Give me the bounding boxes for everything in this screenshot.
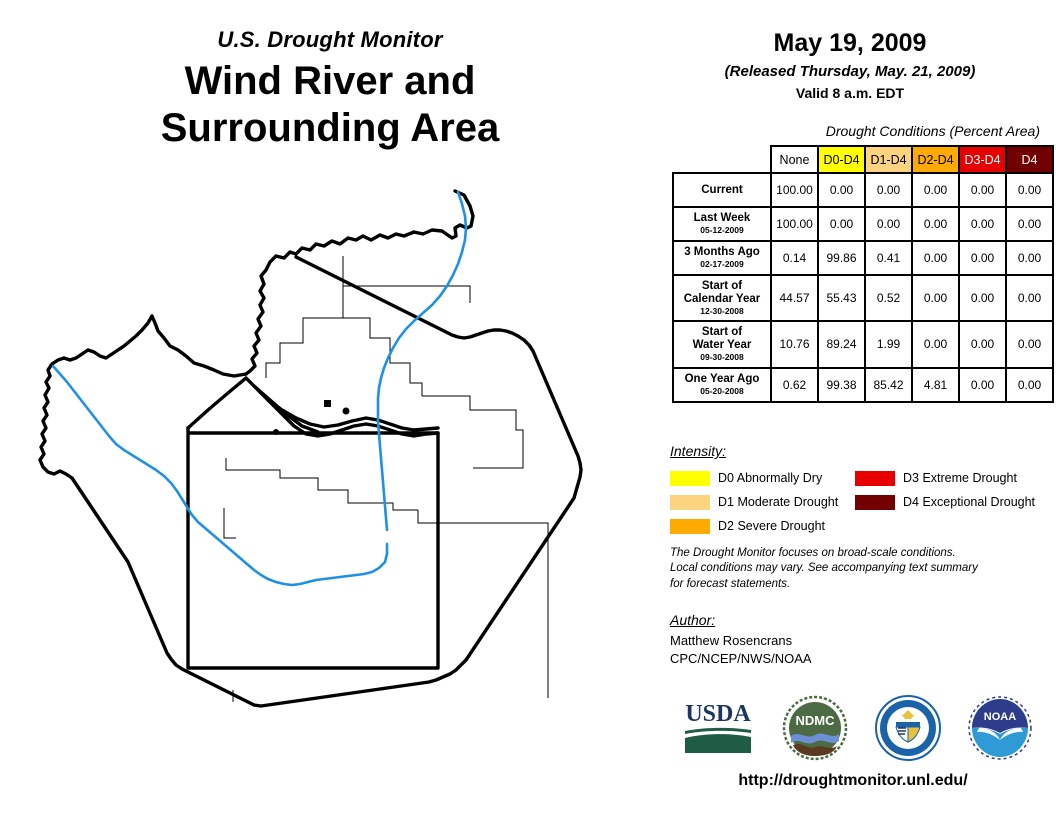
table-cell: 0.00 bbox=[912, 173, 959, 207]
legend-label-d2: D2 Severe Drought bbox=[718, 519, 825, 533]
table-cell: 0.00 bbox=[959, 275, 1006, 321]
legend-grid: D0 Abnormally DryD3 Extreme DroughtD1 Mo… bbox=[670, 466, 1050, 538]
row-header: One Year Ago05-20-2008 bbox=[673, 368, 771, 402]
noaa-logo-text: NOAA bbox=[984, 711, 1016, 723]
row-label: Current bbox=[678, 184, 766, 197]
noaa-logo[interactable]: NOAA bbox=[967, 695, 1033, 761]
legend-label-d4: D4 Exceptional Drought bbox=[903, 495, 1035, 509]
intensity-legend: Intensity: D0 Abnormally DryD3 Extreme D… bbox=[670, 443, 1050, 538]
row-header: 3 Months Ago02-17-2009 bbox=[673, 241, 771, 275]
legend-label-d3: D3 Extreme Drought bbox=[903, 471, 1017, 485]
table-corner-cell bbox=[673, 146, 771, 173]
table-cell: 0.00 bbox=[959, 321, 1006, 367]
column-header-d1-d4: D1-D4 bbox=[865, 146, 912, 173]
table-cell: 0.41 bbox=[865, 241, 912, 275]
table-row: Current100.000.000.000.000.000.00 bbox=[673, 173, 1053, 207]
legend-swatch-d2 bbox=[670, 519, 710, 534]
row-label: Calendar Year bbox=[678, 293, 766, 306]
row-label: 3 Months Ago bbox=[678, 246, 766, 259]
table-cell: 0.00 bbox=[865, 173, 912, 207]
column-header-d2-d4: D2-D4 bbox=[912, 146, 959, 173]
disclaimer-line-3: for forecast statements. bbox=[670, 577, 1040, 592]
legend-swatch-d0 bbox=[670, 471, 710, 486]
map-svg bbox=[18, 178, 642, 708]
table-cell: 0.00 bbox=[1006, 368, 1053, 402]
table-cell: 0.00 bbox=[959, 241, 1006, 275]
table-cell: 0.00 bbox=[1006, 321, 1053, 367]
disclaimer-line-1: The Drought Monitor focuses on broad-sca… bbox=[670, 546, 1040, 561]
site-url[interactable]: http://droughtmonitor.unl.edu/ bbox=[660, 772, 1046, 790]
legend-label-d0: D0 Abnormally Dry bbox=[718, 471, 822, 485]
table-cell: 0.62 bbox=[771, 368, 818, 402]
table-cell: 4.81 bbox=[912, 368, 959, 402]
legend-entry-d3: D3 Extreme Drought bbox=[855, 471, 1040, 486]
valid-date: May 19, 2009 bbox=[660, 30, 1040, 58]
table-cell: 0.00 bbox=[1006, 275, 1053, 321]
row-label: Water Year bbox=[678, 339, 766, 352]
table-row: Start ofCalendar Year12-30-200844.5755.4… bbox=[673, 275, 1053, 321]
author-affiliation: CPC/NCEP/NWS/NOAA bbox=[670, 650, 1040, 668]
table-cell: 0.00 bbox=[818, 173, 865, 207]
legend-swatch-d1 bbox=[670, 495, 710, 510]
column-header-d3-d4: D3-D4 bbox=[959, 146, 1006, 173]
table-cell: 0.00 bbox=[865, 207, 912, 241]
drought-conditions-table: None D0-D4 D1-D4 D2-D4 D3-D4 D4 Current1… bbox=[672, 145, 1054, 403]
disclaimer: The Drought Monitor focuses on broad-sca… bbox=[670, 546, 1040, 592]
table-row: 3 Months Ago02-17-20090.1499.860.410.000… bbox=[673, 241, 1053, 275]
intensity-heading: Intensity: bbox=[670, 443, 1050, 459]
table-cell: 0.00 bbox=[959, 173, 1006, 207]
table-cell: 0.00 bbox=[912, 321, 959, 367]
table-cell: 99.38 bbox=[818, 368, 865, 402]
table-cell: 100.00 bbox=[771, 207, 818, 241]
legend-swatch-d4 bbox=[855, 495, 895, 510]
valid-time: Valid 8 a.m. EDT bbox=[660, 85, 1040, 101]
author-name: Matthew Rosencrans bbox=[670, 632, 1040, 650]
author-block: Author: Matthew Rosencrans CPC/NCEP/NWS/… bbox=[670, 612, 1040, 667]
ndmc-logo[interactable]: NDMC bbox=[782, 695, 848, 761]
table-cell: 44.57 bbox=[771, 275, 818, 321]
table-cell: 0.14 bbox=[771, 241, 818, 275]
row-date: 12-30-2008 bbox=[678, 307, 766, 317]
table-cell: 0.52 bbox=[865, 275, 912, 321]
table-cell: 100.00 bbox=[771, 173, 818, 207]
table-cell: 0.00 bbox=[1006, 241, 1053, 275]
table-cell: 0.00 bbox=[912, 207, 959, 241]
drought-map[interactable] bbox=[18, 178, 642, 708]
row-date: 05-12-2009 bbox=[678, 226, 766, 236]
legend-entry-d4: D4 Exceptional Drought bbox=[855, 495, 1040, 510]
table-cell: 0.00 bbox=[912, 241, 959, 275]
column-header-none: None bbox=[771, 146, 818, 173]
author-heading: Author: bbox=[670, 612, 1040, 628]
page-title: Wind River and Surrounding Area bbox=[0, 58, 660, 152]
usda-logo-text: USDA bbox=[685, 701, 751, 727]
region-title-line2: Surrounding Area bbox=[0, 105, 660, 152]
doc-seal[interactable] bbox=[874, 694, 942, 762]
table-cell: 0.00 bbox=[959, 207, 1006, 241]
row-label: Start of bbox=[678, 280, 766, 293]
row-label: One Year Ago bbox=[678, 373, 766, 386]
row-header: Start ofCalendar Year12-30-2008 bbox=[673, 275, 771, 321]
legend-label-d1: D1 Moderate Drought bbox=[718, 495, 838, 509]
doc-seal-shield-top bbox=[896, 722, 920, 727]
column-header-d4: D4 bbox=[1006, 146, 1053, 173]
row-header: Start ofWater Year09-30-2008 bbox=[673, 321, 771, 367]
legend-entry-d2: D2 Severe Drought bbox=[670, 519, 855, 534]
table-cell: 0.00 bbox=[1006, 207, 1053, 241]
program-subtitle: U.S. Drought Monitor bbox=[0, 28, 660, 52]
date-block: May 19, 2009 (Released Thursday, May. 21… bbox=[660, 30, 1040, 101]
table-cell: 89.24 bbox=[818, 321, 865, 367]
row-date: 02-17-2009 bbox=[678, 260, 766, 270]
table-cell: 0.00 bbox=[959, 368, 1006, 402]
table-body: Current100.000.000.000.000.000.00Last We… bbox=[673, 173, 1053, 402]
row-date: 05-20-2008 bbox=[678, 387, 766, 397]
legend-entry-d0: D0 Abnormally Dry bbox=[670, 471, 855, 486]
usda-logo[interactable]: USDA bbox=[679, 697, 757, 759]
table-caption: Drought Conditions (Percent Area) bbox=[660, 123, 1040, 139]
right-panel: May 19, 2009 (Released Thursday, May. 21… bbox=[660, 0, 1056, 816]
region-title-line1: Wind River and bbox=[0, 58, 660, 105]
table-cell: 0.00 bbox=[912, 275, 959, 321]
table-row: One Year Ago05-20-20080.6299.3885.424.81… bbox=[673, 368, 1053, 402]
released-date: (Released Thursday, May. 21, 2009) bbox=[660, 63, 1040, 80]
row-header: Last Week05-12-2009 bbox=[673, 207, 771, 241]
table-cell: 0.00 bbox=[1006, 173, 1053, 207]
table-cell: 10.76 bbox=[771, 321, 818, 367]
table-row: Last Week05-12-2009100.000.000.000.000.0… bbox=[673, 207, 1053, 241]
table-cell: 99.86 bbox=[818, 241, 865, 275]
table-header-row: None D0-D4 D1-D4 D2-D4 D3-D4 D4 bbox=[673, 146, 1053, 173]
table-cell: 0.00 bbox=[818, 207, 865, 241]
logo-row: USDA NDMC bbox=[666, 688, 1046, 768]
row-label: Last Week bbox=[678, 212, 766, 225]
table-cell: 85.42 bbox=[865, 368, 912, 402]
table-row: Start ofWater Year09-30-200810.7689.241.… bbox=[673, 321, 1053, 367]
legend-entry-d1: D1 Moderate Drought bbox=[670, 495, 855, 510]
row-date: 09-30-2008 bbox=[678, 353, 766, 363]
disclaimer-line-2: Local conditions may vary. See accompany… bbox=[670, 561, 1040, 576]
row-label: Start of bbox=[678, 326, 766, 339]
column-header-d0-d4: D0-D4 bbox=[818, 146, 865, 173]
table-cell: 1.99 bbox=[865, 321, 912, 367]
ndmc-logo-text: NDMC bbox=[796, 713, 836, 728]
row-header: Current bbox=[673, 173, 771, 207]
table-head: None D0-D4 D1-D4 D2-D4 D3-D4 D4 bbox=[673, 146, 1053, 173]
table-cell: 55.43 bbox=[818, 275, 865, 321]
title-block: U.S. Drought Monitor Wind River and Surr… bbox=[0, 28, 660, 153]
legend-swatch-d3 bbox=[855, 471, 895, 486]
